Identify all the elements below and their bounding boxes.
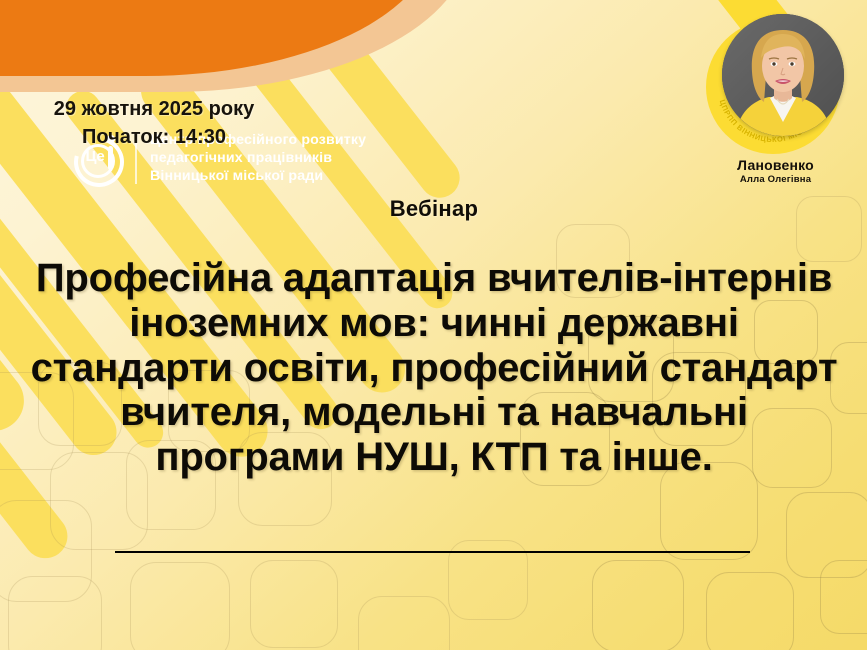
- event-kind-label: Вебінар: [24, 196, 844, 222]
- event-date: 29 жовтня 2025 року: [14, 96, 294, 124]
- rsq-12: [0, 500, 92, 602]
- rsq-13: [8, 576, 102, 650]
- webinar-announcement-slide: Це Центр професійного розвитку педагогіч…: [0, 0, 867, 650]
- speaker-block: ЦПРПП ВІННИЦЬКОЇ МІСЬКОЇ РАДИ: [694, 14, 857, 185]
- avatar: ЦПРПП ВІННИЦЬКОЇ МІСЬКОЇ РАДИ: [706, 14, 846, 154]
- speaker-portrait-icon: [722, 14, 844, 136]
- divider-rule: [115, 551, 750, 553]
- main-content: Вебінар Професійна адаптація вчителів-ін…: [24, 196, 844, 480]
- speaker-given-name: Алла Олегівна: [694, 174, 857, 185]
- rsq-21: [250, 560, 338, 648]
- schedule-block: 29 жовтня 2025 року Початок: 14:30: [14, 96, 294, 151]
- rsq-10: [820, 560, 867, 634]
- rsq-8: [592, 560, 684, 650]
- rsq-9: [706, 572, 794, 650]
- page-title: Професійна адаптація вчителів-інтернів і…: [24, 256, 844, 480]
- rsq-7: [786, 492, 867, 578]
- event-start-time: Початок: 14:30: [14, 124, 294, 152]
- rsq-15: [130, 562, 230, 650]
- speaker-surname: Лановенко: [694, 157, 857, 173]
- stripe-10: [0, 440, 10, 650]
- rsq-22: [358, 596, 450, 650]
